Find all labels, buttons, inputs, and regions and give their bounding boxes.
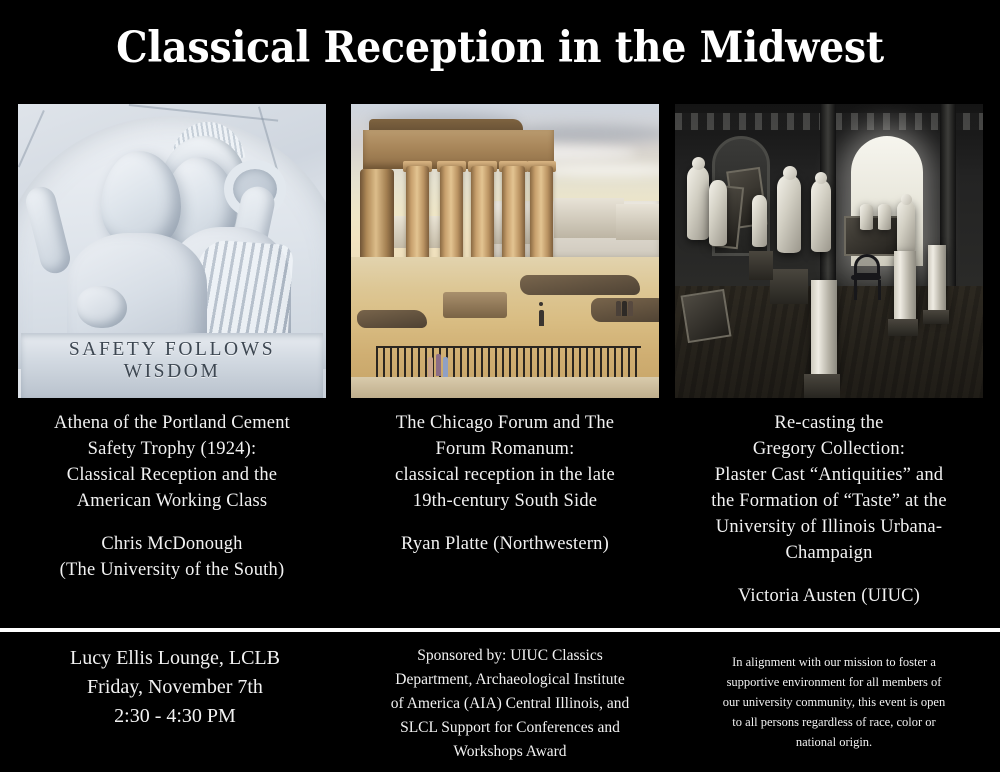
statue-plinth: [811, 280, 837, 380]
chair-back-shape: [854, 254, 880, 276]
plaster-cast-statue: [709, 180, 727, 246]
chair-seat-shape: [851, 275, 881, 280]
ruin-wall-shape: [443, 292, 507, 318]
sponsors-line: Department, Archaeological Institute: [350, 668, 670, 692]
sponsors-line: SLCL Support for Conferences and: [350, 716, 670, 740]
talk-title-line: Safety Trophy (1924):: [18, 436, 326, 462]
event-date: Friday, November 7th: [10, 673, 340, 702]
speaker-name: Chris McDonough: [18, 531, 326, 557]
building-shape: [616, 204, 659, 240]
speaker-name: Victoria Austen (UIUC): [675, 583, 983, 609]
statue-plinth: [894, 251, 916, 325]
poster-root: Classical Reception in the Midwest: [0, 0, 1000, 772]
inclusion-line: national origin.: [678, 732, 990, 752]
talks-grid: SAFETY FOLLOWS WISDOM Athena of the Port…: [0, 104, 1000, 624]
talk-title-line: Athena of the Portland Cement: [18, 410, 326, 436]
talk-title-line: Forum Romanum:: [351, 436, 659, 462]
iron-fence-shape: [376, 346, 641, 377]
plinth-base-shape: [749, 251, 773, 280]
figure-shape: [616, 301, 621, 316]
roman-forum-watercolour-image: [351, 104, 659, 398]
event-details-block: Lucy Ellis Lounge, LCLB Friday, November…: [10, 632, 340, 731]
figure-shape: [436, 354, 441, 376]
foreground-path: [351, 377, 659, 398]
figure-shape: [443, 357, 448, 377]
statue-head-shape: [783, 166, 797, 180]
plaster-cast-statue: [860, 204, 873, 230]
talk-title-1: Athena of the Portland Cement Safety Tro…: [18, 410, 326, 514]
chair-leg-shape: [854, 280, 857, 300]
sponsors-line: of America (AIA) Central Illinois, and: [350, 692, 670, 716]
talk-speaker-1: Chris McDonough (The University of the S…: [18, 531, 326, 583]
speaker-affiliation: (The University of the South): [18, 557, 326, 583]
inclusion-line: In alignment with our mission to foster …: [678, 652, 990, 672]
plinth-base-shape: [888, 319, 918, 337]
talk-speaker-2: Ryan Platte (Northwestern): [351, 531, 659, 557]
inclusion-statement-block: In alignment with our mission to foster …: [678, 632, 990, 752]
plinth-base-shape: [770, 269, 808, 304]
inclusion-line: to all persons regardless of race, color…: [678, 712, 990, 732]
talk-title-line: The Chicago Forum and The: [351, 410, 659, 436]
talk-title-line: Gregory Collection:: [675, 436, 983, 462]
sponsors-line: Sponsored by: UIUC Classics: [350, 644, 670, 668]
plaster-cast-statue: [777, 175, 801, 253]
relief-inscription-text: SAFETY FOLLOWS WISDOM: [18, 339, 326, 383]
plaster-cast-statue: [897, 201, 915, 253]
statue-head-shape: [815, 172, 827, 184]
talk-title-line: University of Illinois Urbana-: [675, 514, 983, 540]
inclusion-line: our university community, this event is …: [678, 692, 990, 712]
statue-plinth: [928, 245, 946, 316]
figure-shape: [539, 310, 544, 326]
talk-speaker-3: Victoria Austen (UIUC): [675, 583, 983, 609]
talk-title-line: Plaster Cast “Antiquities” and: [675, 462, 983, 488]
relief-sculpture-image: SAFETY FOLLOWS WISDOM: [18, 104, 326, 398]
plinth-base-shape: [923, 310, 949, 325]
talk-title-3: Re-casting the Gregory Collection: Plast…: [675, 410, 983, 566]
plaster-cast-gallery-image: [675, 104, 983, 398]
talk-panel-2: The Chicago Forum and The Forum Romanum:…: [351, 104, 659, 557]
statue-head-shape: [901, 194, 912, 205]
rubble-shape: [357, 310, 427, 328]
plaster-cast-statue: [811, 180, 831, 252]
sponsors-block: Sponsored by: UIUC Classics Department, …: [350, 632, 670, 764]
rubble-shape: [520, 275, 640, 295]
talk-panel-1: SAFETY FOLLOWS WISDOM Athena of the Port…: [18, 104, 326, 583]
poster-footer: Lucy Ellis Lounge, LCLB Friday, November…: [0, 632, 1000, 772]
worker-hand-shape: [77, 286, 127, 328]
talk-title-2: The Chicago Forum and The Forum Romanum:…: [351, 410, 659, 514]
plaster-cast-statue: [752, 195, 767, 247]
talk-title-line: 19th-century South Side: [351, 488, 659, 514]
talk-title-line: the Formation of “Taste” at the: [675, 488, 983, 514]
statue-head-shape: [692, 157, 705, 170]
plinth-base-shape: [804, 374, 840, 398]
chair-leg-shape: [878, 280, 881, 300]
figure-shape: [628, 301, 633, 316]
plaster-cast-statue: [878, 204, 891, 230]
talk-title-line: Re-casting the: [675, 410, 983, 436]
sponsors-line: Workshops Award: [350, 740, 670, 764]
plaster-cast-statue: [687, 166, 709, 240]
talk-title-line: classical reception in the late: [351, 462, 659, 488]
figure-shape: [622, 301, 627, 316]
inclusion-line: supportive environment for all members o…: [678, 672, 990, 692]
event-venue: Lucy Ellis Lounge, LCLB: [10, 644, 340, 673]
talk-title-line: Champaign: [675, 540, 983, 566]
building-shape: [554, 198, 624, 238]
speaker-name: Ryan Platte (Northwestern): [351, 531, 659, 557]
talk-title-line: Classical Reception and the: [18, 462, 326, 488]
picture-frame-shape: [681, 289, 732, 343]
talk-panel-3: Re-casting the Gregory Collection: Plast…: [675, 104, 983, 609]
page-title: Classical Reception in the Midwest: [40, 22, 960, 74]
talk-title-line: American Working Class: [18, 488, 326, 514]
figure-shape: [428, 357, 433, 377]
event-time: 2:30 - 4:30 PM: [10, 702, 340, 731]
